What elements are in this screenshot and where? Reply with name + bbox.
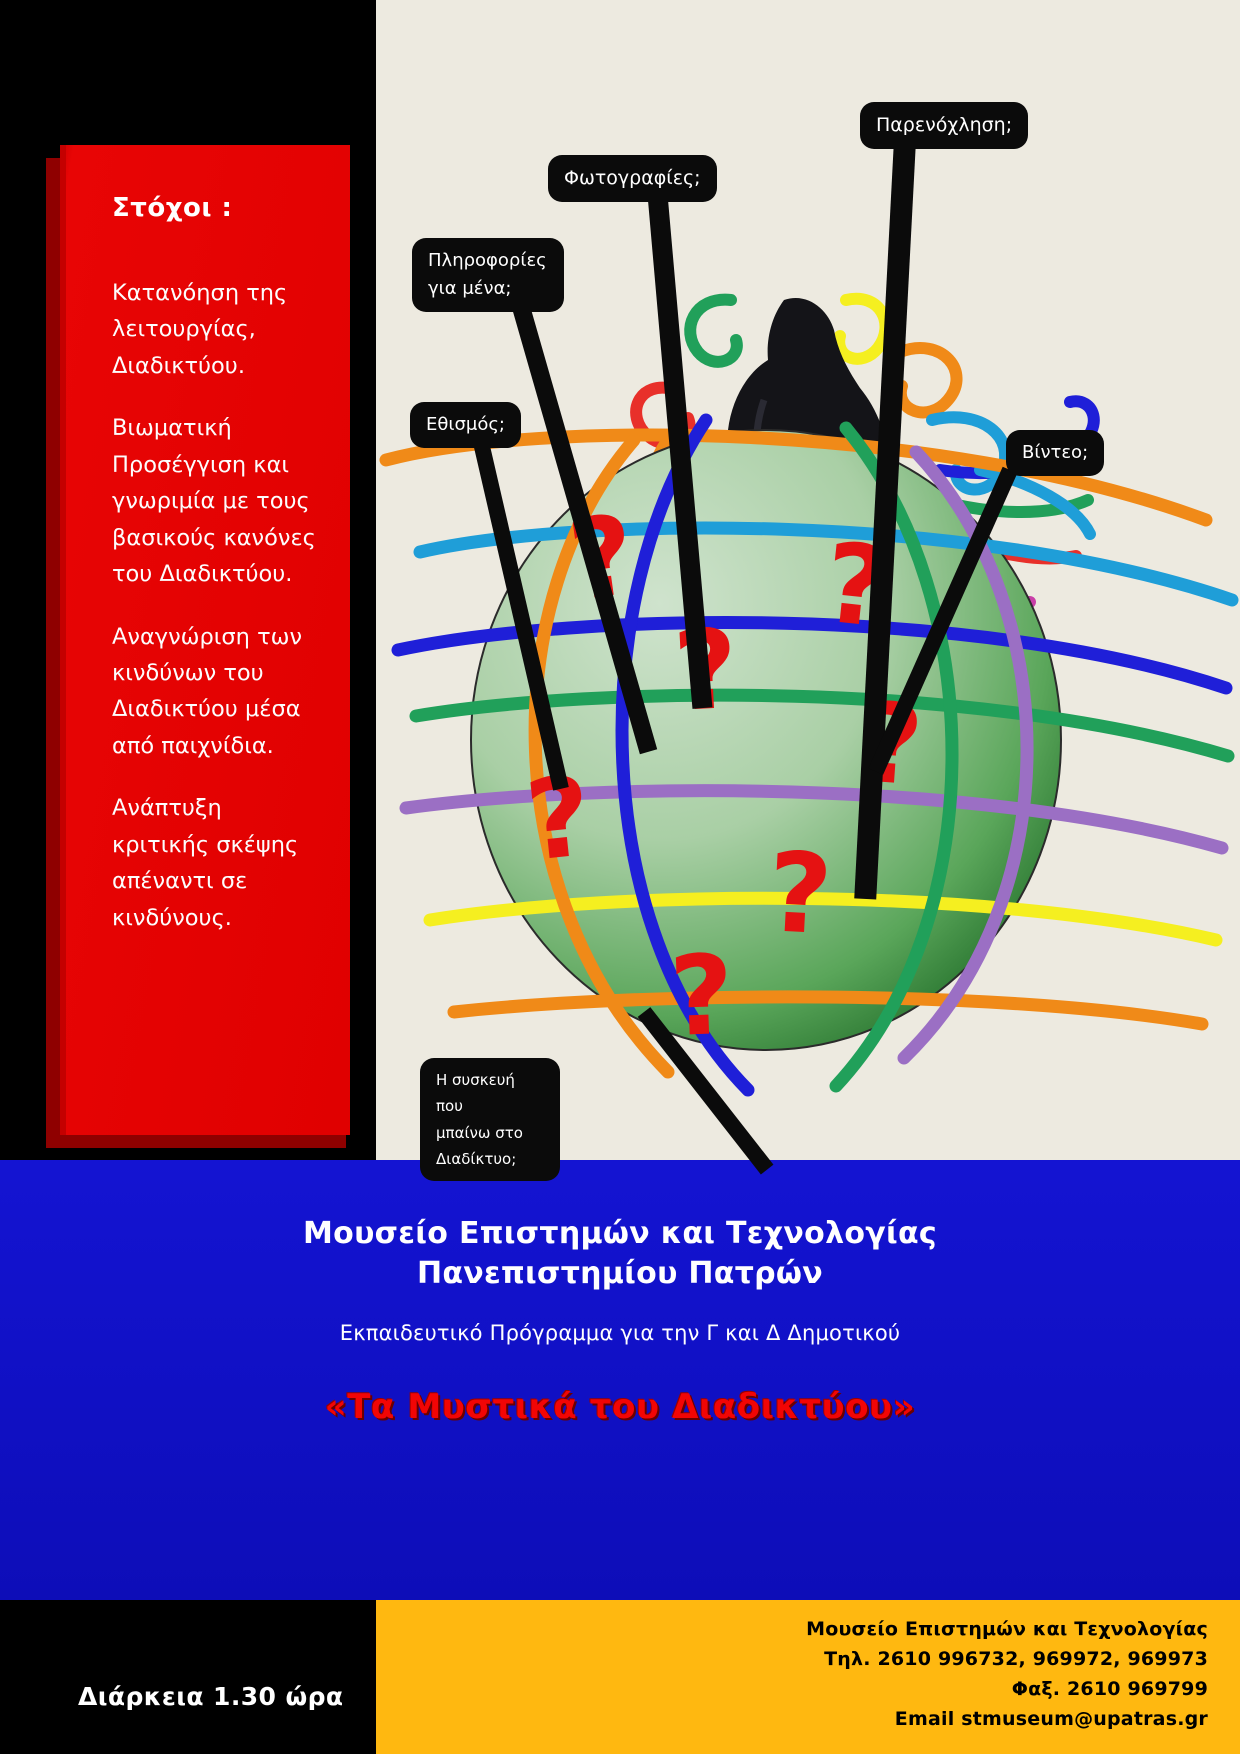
objective-item-4: Ανάπτυξη κριτικής σκέψης απέναντι σε κιν… [112, 790, 324, 936]
contact-line-3: Φαξ. 2610 969799 [376, 1674, 1208, 1704]
bubble-device[interactable]: Η συσκευή που μπαίνω στο Διαδίκτυο; [420, 1058, 560, 1181]
contact-line-4: Email stmuseum@upatras.gr [376, 1704, 1208, 1734]
organisation-line-1: Μουσείο Επιστημών και Τεχνολογίας [0, 1160, 1240, 1254]
objective-item-3: Αναγνώριση των κινδύνων του Διαδικτύου μ… [112, 619, 324, 765]
bottom-bar: Διάρκεια 1.30 ώρα Μουσείο Επιστημών και … [0, 1600, 1240, 1754]
poster-root: ? ? ? ? ? ? ? Παρενόχληση; Φωτογραφίες; … [0, 0, 1240, 1754]
bubble-photos[interactable]: Φωτογραφίες; [548, 155, 717, 202]
objectives-title: Στόχοι : [112, 193, 324, 223]
objective-item-2: Βιωματική Προσέγγιση και γνωριμία με του… [112, 410, 324, 592]
organisation-line-2: Πανεπιστημίου Πατρών [0, 1254, 1240, 1294]
objectives-panel: Στόχοι : Κατανόηση της λειτουργίας, Διαδ… [60, 145, 350, 1135]
contact-line-1: Μουσείο Επιστημών και Τεχνολογίας [376, 1614, 1208, 1644]
poster-stage: ? ? ? ? ? ? ? Παρενόχληση; Φωτογραφίες; … [0, 0, 1240, 1160]
objective-item-1: Κατανόηση της λειτουργίας, Διαδικτύου. [112, 275, 324, 384]
contact-box: Μουσείο Επιστημών και Τεχνολογίας Τηλ. 2… [376, 1600, 1240, 1754]
bubble-addiction[interactable]: Εθισμός; [410, 402, 521, 448]
bubble-harassment[interactable]: Παρενόχληση; [860, 102, 1028, 149]
bubble-video[interactable]: Βίντεο; [1006, 430, 1104, 476]
organisation-band: Μουσείο Επιστημών και Τεχνολογίας Πανεπι… [0, 1160, 1240, 1600]
program-subtitle: Εκπαιδευτικό Πρόγραμμα για την Γ και Δ Δ… [0, 1321, 1240, 1345]
duration-label: Διάρκεια 1.30 ώρα [78, 1682, 343, 1711]
contact-line-2: Τηλ. 2610 996732, 969972, 969973 [376, 1644, 1208, 1674]
bubble-info-about-me[interactable]: Πληροφορίες για μένα; [412, 238, 564, 312]
program-title: «Τα Μυστικά του Διαδικτύου» [0, 1387, 1240, 1427]
